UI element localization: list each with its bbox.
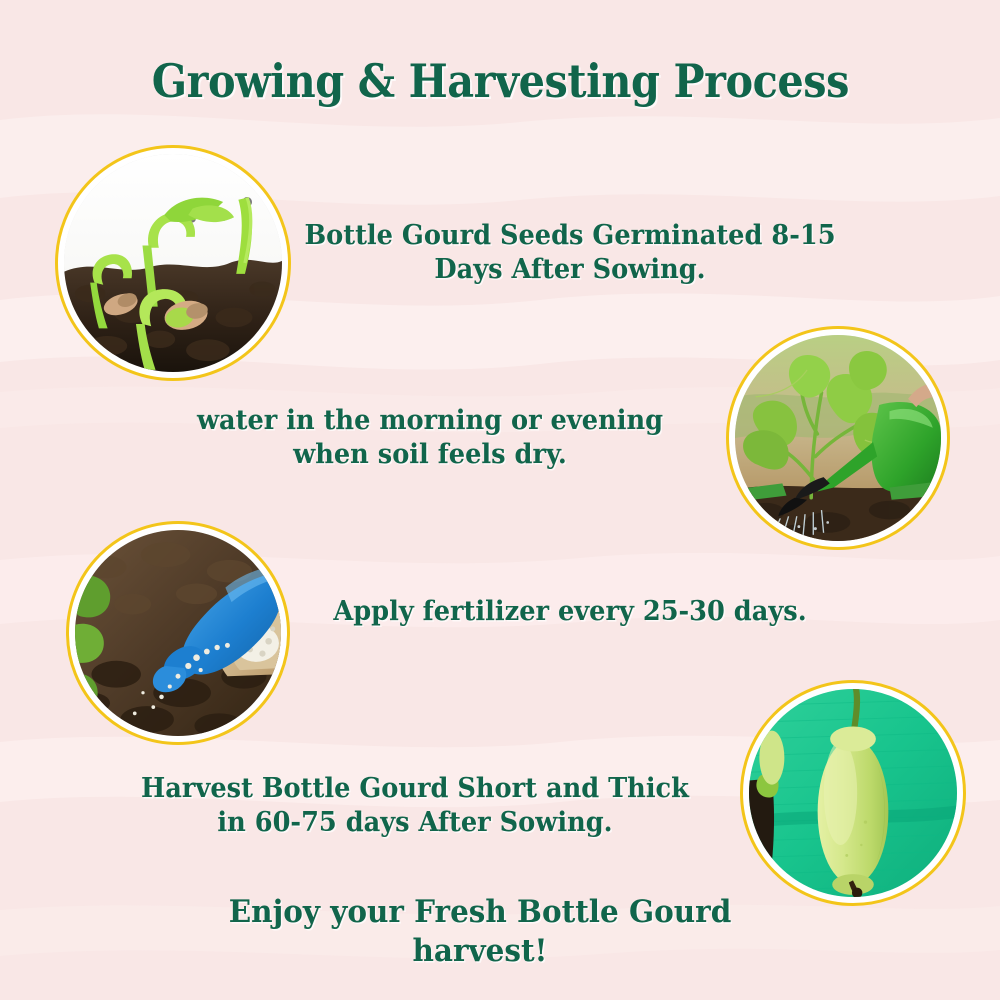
closing-text-line-2: harvest!	[195, 932, 765, 971]
step-4-image-circle	[740, 680, 966, 906]
bottle-gourd-illustration	[749, 689, 957, 897]
watering-illustration	[735, 335, 941, 541]
step-2-image-circle	[726, 326, 950, 550]
seedlings-sprouting-in-soil-photo	[64, 154, 282, 372]
step-2-text-line-2: when soil feels dry.	[164, 438, 696, 472]
step-1-text-line-2: Days After Sowing.	[304, 253, 836, 287]
step-1-text-line-1: Bottle Gourd Seeds Germinated 8-15	[304, 219, 836, 253]
closing-text-line-1: Enjoy your Fresh Bottle Gourd	[195, 893, 765, 932]
step-3-image-circle	[66, 521, 290, 745]
fertilizer-illustration	[75, 530, 281, 736]
watering-can-watering-plant-photo	[735, 335, 941, 541]
step-3-text: Apply fertilizer every 25-30 days.	[304, 595, 836, 629]
seedling-illustration	[64, 154, 282, 372]
step-4-text: Harvest Bottle Gourd Short and Thick in …	[135, 772, 696, 840]
ripe-bottle-gourd-hanging-photo	[749, 689, 957, 897]
title-container: Growing & Harvesting Process	[0, 26, 1000, 136]
page-title: Growing & Harvesting Process	[151, 57, 848, 106]
step-4-text-line-1: Harvest Bottle Gourd Short and Thick	[135, 772, 696, 806]
step-4-text-line-2: in 60-75 days After Sowing.	[135, 806, 696, 840]
step-2-text-line-1: water in the morning or evening	[164, 404, 696, 438]
closing-text: Enjoy your Fresh Bottle Gourd harvest!	[195, 893, 765, 971]
gloved-hand-applying-fertilizer-photo	[75, 530, 281, 736]
step-3-text-line-1: Apply fertilizer every 25-30 days.	[304, 595, 836, 629]
step-1-image-circle	[55, 145, 291, 381]
step-2-text: water in the morning or evening when soi…	[164, 404, 696, 472]
step-1-text: Bottle Gourd Seeds Germinated 8-15 Days …	[304, 219, 836, 287]
